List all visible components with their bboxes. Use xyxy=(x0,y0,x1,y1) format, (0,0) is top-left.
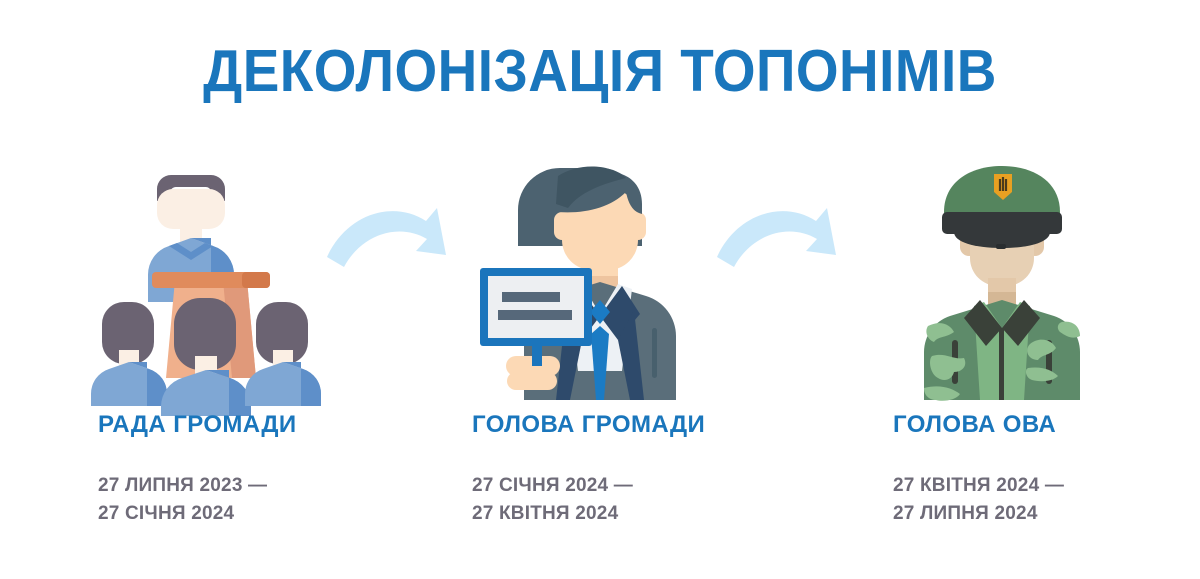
steps-caption-row: РАДА ГРОМАДИ 27 ЛИПНЯ 2023 — 27 СІЧНЯ 20… xyxy=(0,412,1200,552)
step-1-illustration xyxy=(90,150,330,400)
steps-illustration-row xyxy=(0,150,1200,420)
step-2-title: ГОЛОВА ГРОМАДИ xyxy=(472,412,802,438)
arrow-step1-to-step2 xyxy=(320,195,470,275)
step-2-dates: 27 СІЧНЯ 2024 — 27 КВІТНЯ 2024 xyxy=(472,472,802,527)
step-2-illustration xyxy=(470,150,710,400)
page-title: ДЕКОЛОНІЗАЦІЯ ТОПОНІМІВ xyxy=(42,42,1158,101)
arrow-step2-to-step3 xyxy=(710,195,860,275)
official-with-sign-icon xyxy=(470,150,710,400)
step-3-illustration xyxy=(880,150,1120,400)
step-3-title: ГОЛОВА ОВА xyxy=(893,412,1200,438)
step-1-title: РАДА ГРОМАДИ xyxy=(98,412,428,438)
step-3-caption: ГОЛОВА ОВА 27 КВІТНЯ 2024 — 27 ЛИПНЯ 202… xyxy=(893,412,1200,527)
military-officer-icon xyxy=(880,150,1120,400)
infographic-page: ДЕКОЛОНІЗАЦІЯ ТОПОНІМІВ xyxy=(0,0,1200,579)
council-podium-icon xyxy=(90,150,330,400)
step-2-caption: ГОЛОВА ГРОМАДИ 27 СІЧНЯ 2024 — 27 КВІТНЯ… xyxy=(472,412,802,527)
step-1-caption: РАДА ГРОМАДИ 27 ЛИПНЯ 2023 — 27 СІЧНЯ 20… xyxy=(98,412,428,527)
curved-arrow-icon xyxy=(710,195,860,275)
step-3-dates: 27 КВІТНЯ 2024 — 27 ЛИПНЯ 2024 xyxy=(893,472,1200,527)
step-1-dates: 27 ЛИПНЯ 2023 — 27 СІЧНЯ 2024 xyxy=(98,472,428,527)
curved-arrow-icon xyxy=(320,195,470,275)
